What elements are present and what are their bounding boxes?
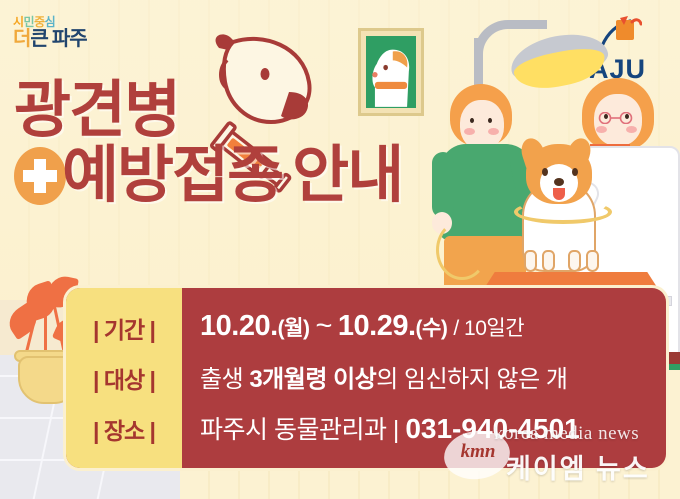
slogan-char-2: 민 [24, 15, 35, 29]
medical-cross-icon [14, 147, 66, 205]
watermark-korean: 케이엠 뉴스 [506, 447, 650, 486]
headline-line-1: 광견병 [14, 82, 179, 141]
period-end-day: (수) [416, 317, 448, 340]
city-slogan-logo: 시민중심 더큰파주 [13, 16, 128, 50]
watermark: kmn korea media news 케이엠 뉴스 [434, 417, 674, 493]
target-pre: 출생 [200, 366, 249, 393]
period-start-day: (월) [278, 317, 310, 340]
glasses-icon [596, 112, 640, 124]
watermark-english: korea media news [494, 423, 639, 445]
info-label-column: | 기간 | | 대상 | | 장소 | [66, 288, 182, 468]
rabies-vaccination-poster: 시민중심 더큰파주 PAJU 광견병 예방접종안내 [0, 0, 680, 499]
target-post: 의 임신하지 않은 개 [376, 366, 567, 393]
place-department: 파주시 동물관리과 | [200, 416, 405, 444]
city-name-line: 더큰파주 [13, 29, 128, 50]
period-end-date: 10.29. [338, 310, 416, 342]
period-start-date: 10.20. [200, 310, 278, 342]
info-label-period: | 기간 | [93, 311, 155, 345]
slogan-char-4: 심 [45, 15, 56, 29]
period-tilde: ~ [315, 310, 331, 342]
info-value-target: 출생 3개월령 이상의 임신하지 않은 개 [200, 359, 567, 394]
city-name-city: 파주 [52, 28, 87, 50]
city-slogan-line: 시민중심 [13, 16, 128, 28]
info-value-period: 10.20.(월)~10.29.(수)/ 10일간 [200, 310, 524, 343]
city-name-big: 큰 [30, 28, 47, 50]
city-name-prefix: 더 [13, 28, 30, 50]
info-label-target: | 대상 | [93, 361, 155, 395]
target-bold: 3개월령 이상 [249, 366, 376, 393]
headline-line-2: 예방접종 [62, 141, 282, 210]
slogan-char-3: 중 [34, 15, 45, 29]
headline-block: 광견병 예방접종안내 [14, 82, 402, 206]
info-label-place: | 장소 | [93, 412, 155, 446]
headline-line-2-suffix: 안내 [292, 141, 402, 210]
period-duration: / 10일간 [453, 317, 524, 340]
slogan-char-1: 시 [13, 15, 24, 29]
